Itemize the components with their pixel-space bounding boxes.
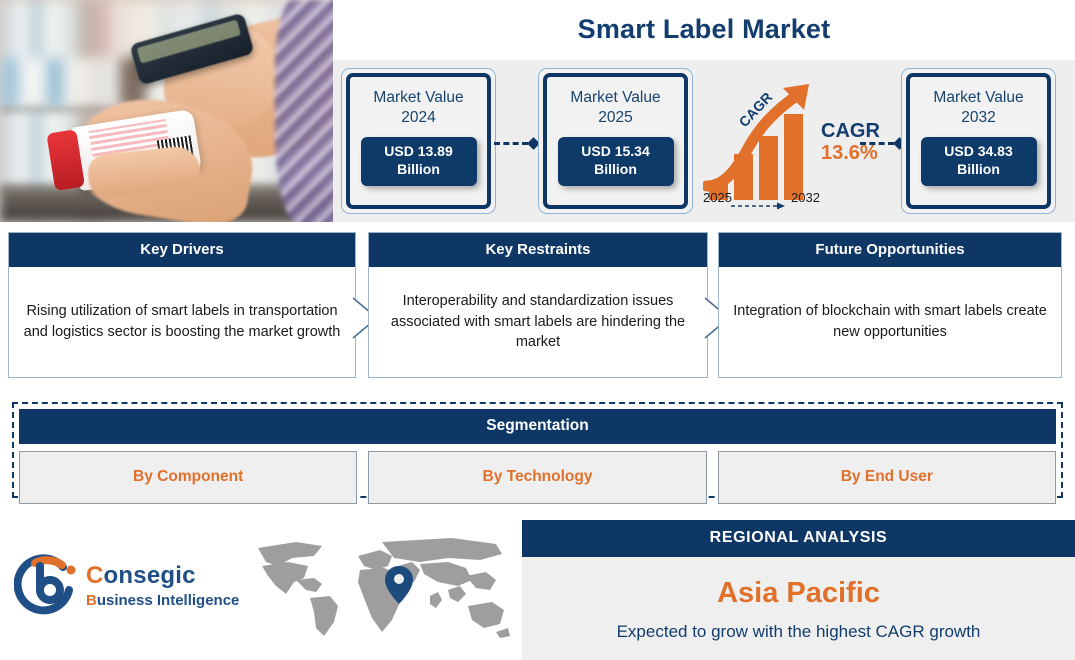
connector-2024-2025 xyxy=(494,138,538,148)
regional-analysis-region: Asia Pacific xyxy=(522,577,1075,610)
card-value-amount: USD 15.34 xyxy=(581,143,649,159)
card-title: Market Value 2032 xyxy=(933,88,1023,128)
card-value-unit: Billion xyxy=(957,161,1000,177)
panel-text: Interoperability and standardization iss… xyxy=(369,267,707,377)
regional-analysis-note: Expected to grow with the highest CAGR g… xyxy=(522,622,1075,642)
card-title: Market Value 2024 xyxy=(373,88,463,128)
page-title: Smart Label Market xyxy=(333,14,1075,45)
sleeve xyxy=(275,0,333,222)
insight-panels: Key Drivers Rising utilization of smart … xyxy=(0,232,1075,394)
panel-heading: Future Opportunities xyxy=(719,233,1061,267)
logo-tagline: Business Intelligence xyxy=(86,592,239,609)
logo-company-name: Consegic xyxy=(86,562,196,590)
regional-analysis-panel: REGIONAL ANALYSIS Asia Pacific Expected … xyxy=(522,520,1075,660)
connector-line xyxy=(860,142,894,145)
card-title-line1: Market Value xyxy=(570,89,660,106)
logo-name-rest: onsegic xyxy=(104,562,196,589)
segment-by-technology[interactable]: By Technology xyxy=(368,451,706,504)
panel-text: Integration of blockchain with smart lab… xyxy=(719,267,1061,377)
hero-photo xyxy=(0,0,333,222)
card-value-unit: Billion xyxy=(397,161,440,177)
footer: Consegic Business Intelligence xyxy=(0,508,1075,660)
card-value-badge: USD 34.83 Billion xyxy=(921,137,1037,186)
panel-key-drivers: Key Drivers Rising utilization of smart … xyxy=(8,232,356,378)
cagr-axis-start-year: 2025 xyxy=(703,190,732,205)
regional-analysis-heading: REGIONAL ANALYSIS xyxy=(522,520,1075,557)
company-logo: Consegic Business Intelligence xyxy=(14,550,244,622)
top-band: Smart Label Market Market Value 2024 USD… xyxy=(0,0,1075,225)
segmentation-heading: Segmentation xyxy=(19,409,1056,444)
card-title-line1: Market Value xyxy=(373,89,463,106)
logo-name-initial: C xyxy=(86,562,104,589)
metrics-band: Market Value 2024 USD 13.89 Billion Mark… xyxy=(333,60,1075,222)
card-value-badge: USD 13.89 Billion xyxy=(361,137,477,186)
cagr-axis-end-year: 2032 xyxy=(791,190,820,205)
card-value-amount: USD 34.83 xyxy=(944,143,1012,159)
consegic-logo-mark-icon xyxy=(14,554,80,620)
panel-key-restraints: Key Restraints Interoperability and stan… xyxy=(368,232,708,378)
map-landmasses xyxy=(258,538,510,638)
panel-text: Rising utilization of smart labels in tr… xyxy=(9,267,355,377)
card-value-unit: Billion xyxy=(594,161,637,177)
segment-by-component[interactable]: By Component xyxy=(19,451,357,504)
card-value-amount: USD 13.89 xyxy=(384,143,452,159)
card-title-year: 2032 xyxy=(961,109,995,126)
world-map xyxy=(252,536,514,644)
market-value-card-2032: Market Value 2032 USD 34.83 Billion xyxy=(901,68,1056,214)
panel-heading: Key Restraints xyxy=(369,233,707,267)
segmentation-items: By Component By Technology By End User xyxy=(19,451,1056,504)
card-title-line1: Market Value xyxy=(933,89,1023,106)
panel-future-opportunities: Future Opportunities Integration of bloc… xyxy=(718,232,1062,378)
card-value-badge: USD 15.34 Billion xyxy=(558,137,674,186)
connector-line xyxy=(494,142,528,145)
market-value-card-2025: Market Value 2025 USD 15.34 Billion xyxy=(538,68,693,214)
card-title-year: 2024 xyxy=(401,109,435,126)
card-title-year: 2025 xyxy=(598,109,632,126)
market-value-card-2024: Market Value 2024 USD 13.89 Billion xyxy=(341,68,496,214)
segmentation-section: Segmentation By Component By Technology … xyxy=(12,402,1063,498)
panel-heading: Key Drivers xyxy=(9,233,355,267)
logo-tagline-rest: usiness Intelligence xyxy=(97,592,240,609)
logo-tagline-initial: B xyxy=(86,592,97,609)
card-title: Market Value 2025 xyxy=(570,88,660,128)
segment-by-end-user[interactable]: By End User xyxy=(718,451,1056,504)
connector-cagr-2032 xyxy=(860,138,904,148)
